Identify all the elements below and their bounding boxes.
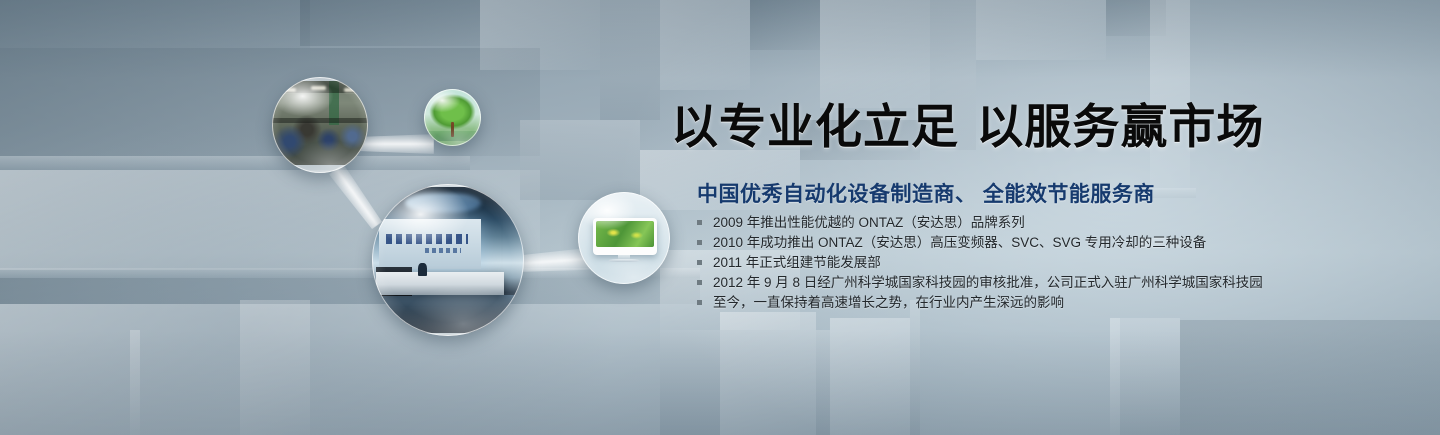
- sphere-company-lobby: [372, 184, 524, 336]
- hero-banner: 以专业化立足 以服务赢市场 中国优秀自动化设备制造商、 全能效节能服务商 200…: [0, 0, 1440, 435]
- list-item: 2010 年成功推出 ONTAZ（安达思）高压变频器、SVC、SVG 专用冷却的…: [697, 234, 1263, 251]
- sphere-factory-workshop: [272, 77, 368, 173]
- sphere-display-screen: [578, 192, 670, 284]
- banner-subtitle: 中国优秀自动化设备制造商、 全能效节能服务商: [697, 178, 1155, 208]
- sphere-green-tree: [424, 89, 481, 146]
- list-item: 至今，一直保持着高速增长之势，在行业内产生深远的影响: [697, 294, 1263, 311]
- list-item: 2009 年推出性能优越的 ONTAZ（安达思）品牌系列: [697, 214, 1263, 231]
- list-item: 2011 年正式组建节能发展部: [697, 254, 1263, 271]
- list-item: 2012 年 9 月 8 日经广州科学城国家科技园的审核批准，公司正式入驻广州科…: [697, 274, 1263, 291]
- banner-headline: 以专业化立足 以服务赢市场: [671, 88, 1264, 157]
- company-milestones-list: 2009 年推出性能优越的 ONTAZ（安达思）品牌系列 2010 年成功推出 …: [697, 214, 1263, 314]
